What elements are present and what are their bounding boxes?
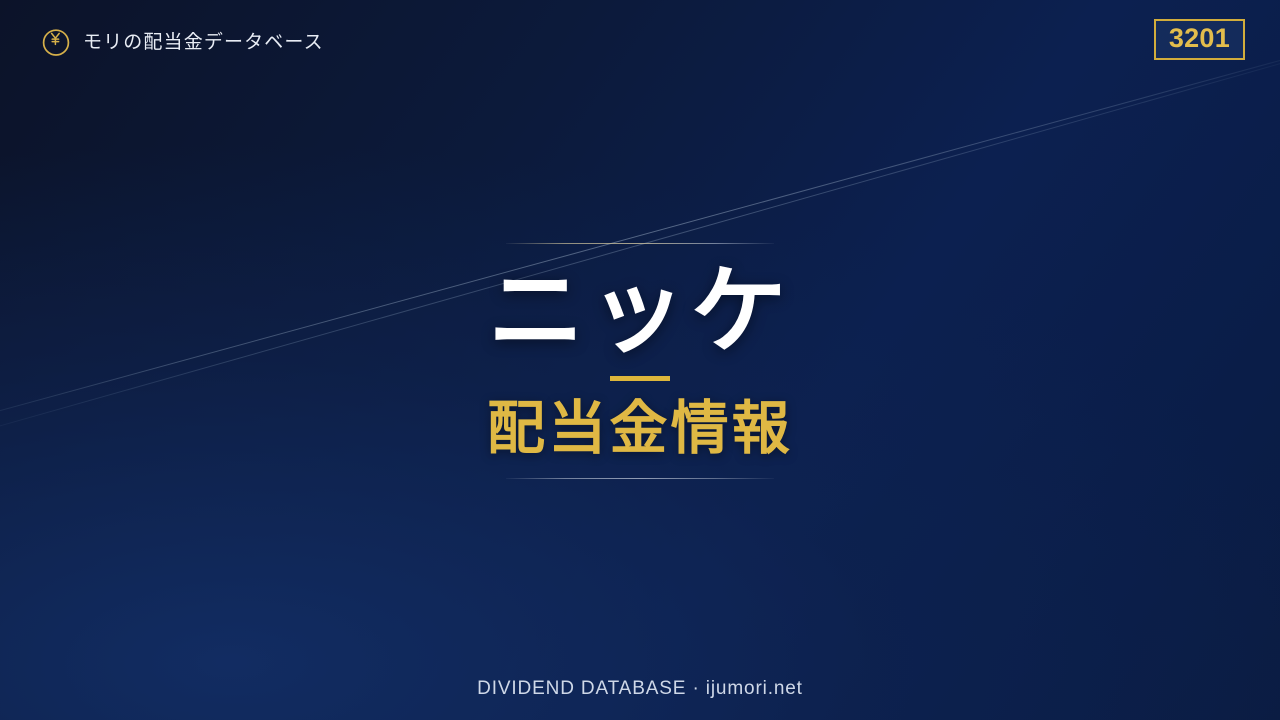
gold-accent-divider [610,376,670,381]
hero-block: ニッケ 配当金情報 [0,243,1280,479]
hero-top-rule [506,243,774,244]
brand-title: モリの配当金データベース [83,33,324,52]
ticker-badge: 3201 [1154,19,1245,60]
slide-root: モリの配当金データベース 3201 ニッケ 配当金情報 DIVIDEND DAT… [0,0,1280,720]
brand: モリの配当金データベース [40,26,324,58]
footer-text: DIVIDEND DATABASE · ijumori.net [477,678,803,700]
page-subtitle: 配当金情報 [0,397,1280,462]
yen-circle-icon [40,26,72,58]
company-name: ニッケ [0,262,1280,362]
footer-bar: DIVIDEND DATABASE · ijumori.net [0,658,1280,720]
hero-bottom-rule [506,478,774,479]
header-bar: モリの配当金データベース 3201 [0,0,1280,90]
